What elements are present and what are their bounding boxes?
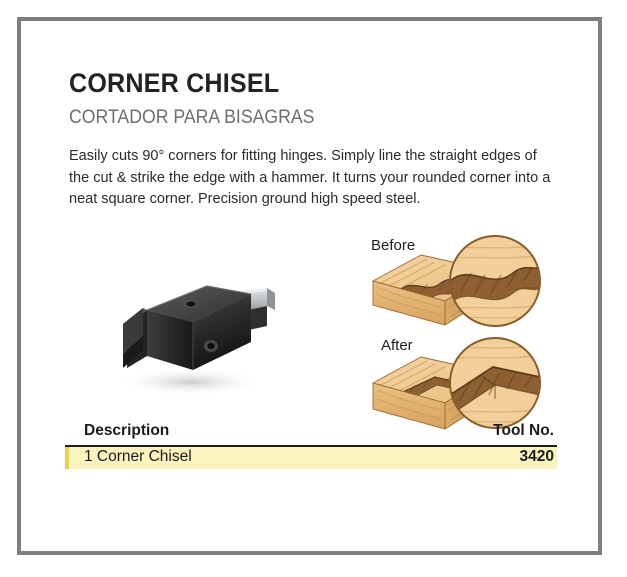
product-photo [99,264,289,404]
before-label: Before [371,237,415,254]
after-label: After [381,337,413,354]
cell-description: 1 Corner Chisel [84,448,192,466]
page-subtitle: CORTADOR PARA BISAGRAS [69,107,314,129]
corner-chisel-photo-svg [99,264,289,404]
catalog-page-frame: CORNER CHISEL CORTADOR PARA BISAGRAS Eas… [17,17,602,555]
table-header-row: Description Tool No. [65,422,557,447]
product-description: Easily cuts 90° corners for fitting hing… [69,145,550,210]
page-title: CORNER CHISEL [69,68,279,99]
page-content: CORNER CHISEL CORTADOR PARA BISAGRAS Eas… [21,21,598,551]
table-row[interactable]: 1 Corner Chisel 3420 [65,447,557,469]
cell-tool-no: 3420 [520,448,554,466]
column-header-tool-no: Tool No. [493,422,554,440]
spec-table: Description Tool No. 1 Corner Chisel 342… [65,422,557,469]
row-accent-bar [65,447,69,469]
column-header-description: Description [84,422,169,440]
